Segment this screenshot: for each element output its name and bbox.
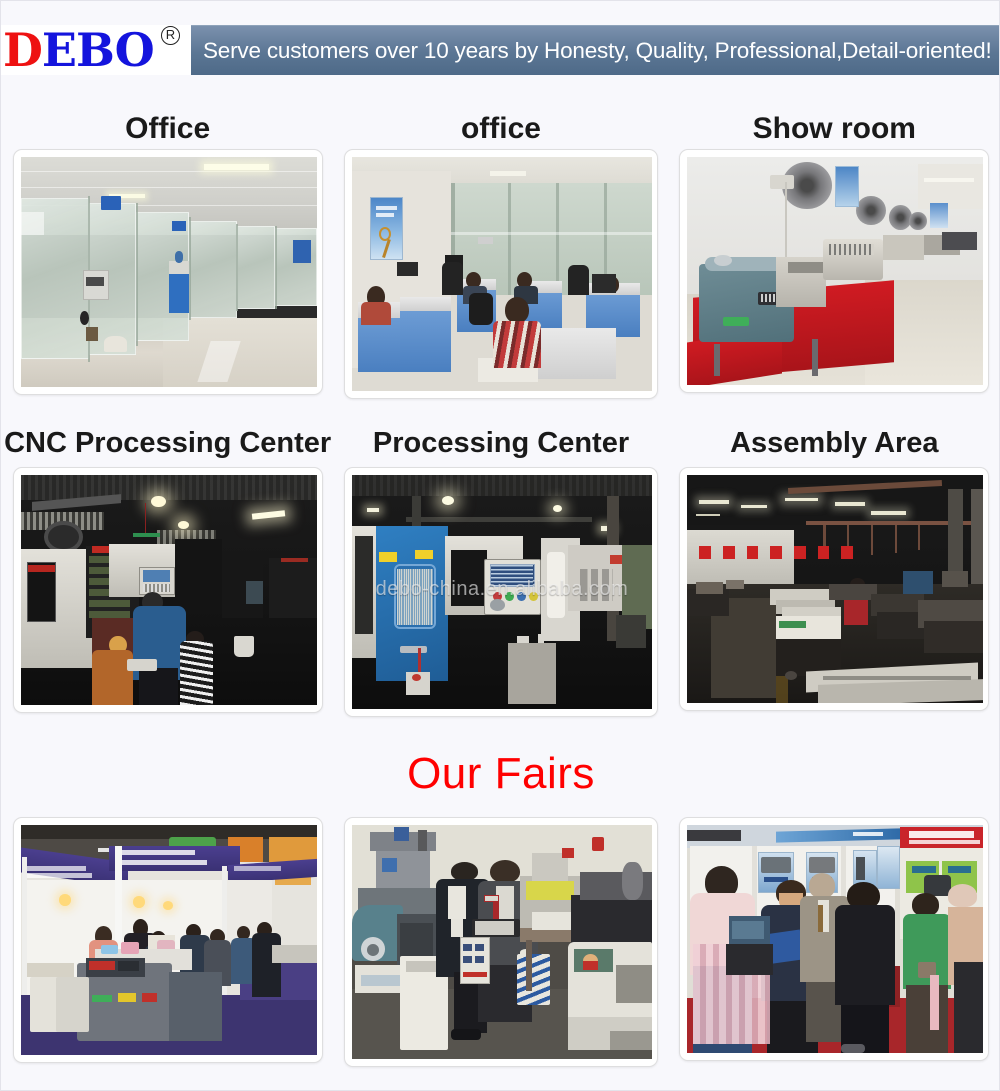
photo-card-cnc-processing-center[interactable] <box>13 467 323 713</box>
title-cnc-processing-center: CNC Processing Center <box>4 428 331 458</box>
slogan-banner: Serve customers over 10 years by Honesty… <box>191 25 1000 75</box>
photo-card-fair-1[interactable] <box>13 817 323 1063</box>
title-show-room: Show room <box>753 113 916 145</box>
photo-card-fair-2[interactable] <box>344 817 658 1067</box>
facility-row-1-photos <box>1 149 1000 399</box>
photo-card-office-2[interactable] <box>344 149 658 399</box>
photo-assembly-area <box>687 475 983 703</box>
facility-row-1-titles: Office office Show room <box>1 113 1000 145</box>
photo-open-plan-office <box>352 157 652 391</box>
page-header: DEBO R Serve customers over 10 years by … <box>1 25 1000 75</box>
photo-show-room <box>687 157 983 385</box>
photo-card-office-1[interactable] <box>13 149 323 395</box>
title-office-2: office <box>461 113 541 145</box>
logo-letters-ebo: EBO <box>42 23 154 77</box>
title-processing-center: Processing Center <box>373 428 629 458</box>
our-fairs-heading: Our Fairs <box>1 749 1000 799</box>
photo-card-fair-3[interactable] <box>679 817 989 1061</box>
photo-card-show-room[interactable] <box>679 149 989 393</box>
registered-trademark-icon: R <box>161 26 180 45</box>
photo-card-assembly-area[interactable] <box>679 467 989 711</box>
photo-cnc-processing-center <box>21 475 317 705</box>
fairs-photos <box>1 817 1000 1067</box>
photo-fair-crowd <box>687 825 983 1053</box>
product-detail-page: DEBO R Serve customers over 10 years by … <box>0 0 1000 1091</box>
logo-letter-d: D <box>3 23 42 77</box>
photo-fair-booth-banner <box>21 825 317 1055</box>
title-office-1: Office <box>125 113 210 145</box>
photo-processing-center: debo-china.en.alibaba.com <box>352 475 652 709</box>
title-assembly-area: Assembly Area <box>730 428 938 458</box>
photo-card-processing-center[interactable]: debo-china.en.alibaba.com <box>344 467 658 717</box>
photo-fair-meeting <box>352 825 652 1059</box>
slogan-text: Serve customers over 10 years by Honesty… <box>203 38 992 64</box>
logo-wordmark: DEBO <box>1 27 154 73</box>
photo-office-glass-partitions <box>21 157 317 387</box>
facility-row-2-titles: CNC Processing Center Processing Center … <box>1 428 1000 458</box>
facility-row-2-photos: debo-china.en.alibaba.com <box>1 467 1000 717</box>
brand-logo: DEBO R <box>1 25 191 75</box>
